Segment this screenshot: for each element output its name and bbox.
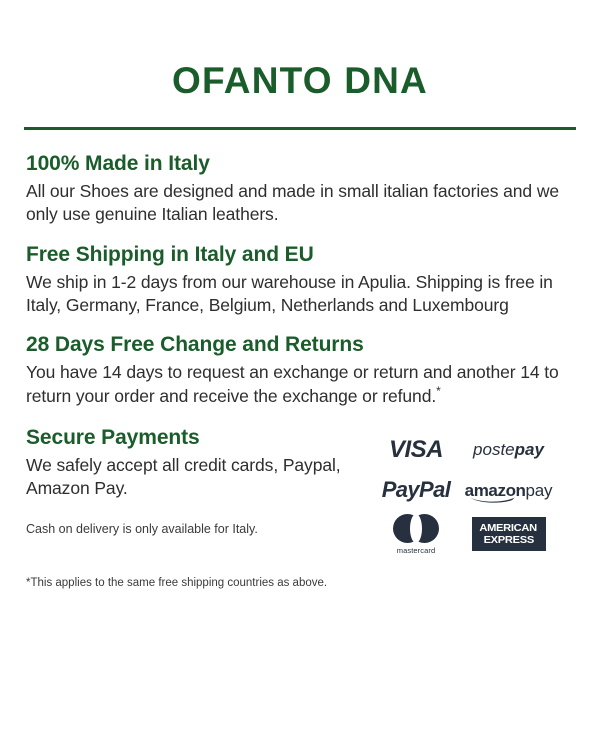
mastercard-logo-cell: mastercard	[376, 510, 456, 558]
postepay-bold-part: pay	[515, 440, 544, 459]
amex-line-2: EXPRESS	[483, 534, 533, 546]
section-body: You have 14 days to request an exchange …	[26, 361, 574, 408]
postepay-icon: postepay	[473, 440, 544, 460]
section-heading: Secure Payments	[26, 426, 366, 450]
amazon-pay-icon: amazonpay	[465, 482, 553, 499]
postepay-light-part: poste	[473, 440, 515, 459]
visa-logo-cell: VISA	[376, 430, 456, 470]
mastercard-icon: mastercard	[393, 514, 439, 555]
section-body: All our Shoes are designed and made in s…	[26, 180, 574, 227]
paypal-logo-cell: PayPal	[376, 470, 456, 510]
cash-on-delivery-note: Cash on delivery is only available for I…	[26, 521, 366, 537]
amazon-pay-logo-cell: amazonpay	[461, 470, 556, 510]
mastercard-overlap	[410, 514, 422, 543]
amazon-light-part: pay	[526, 481, 553, 500]
mastercard-wordmark: mastercard	[397, 546, 436, 555]
content-area: 100% Made in Italy All our Shoes are des…	[0, 130, 600, 591]
american-express-icon: AMERICAN EXPRESS	[472, 517, 546, 551]
section-body: We safely accept all credit cards, Paypa…	[26, 454, 366, 501]
section-returns: 28 Days Free Change and Returns You have…	[26, 333, 574, 408]
mastercard-circles	[393, 514, 439, 543]
section-heading: 28 Days Free Change and Returns	[26, 333, 574, 357]
section-body-text: You have 14 days to request an exchange …	[26, 362, 559, 405]
section-secure-payments: Secure Payments We safely accept all cre…	[26, 426, 574, 554]
amex-line-1: AMERICAN	[480, 522, 537, 534]
ofanto-dna-info-panel: OFANTO DNA 100% Made in Italy All our Sh…	[0, 0, 600, 750]
section-made-in-italy: 100% Made in Italy All our Shoes are des…	[26, 152, 574, 227]
amazon-smile-arrow-icon	[466, 496, 520, 503]
footnote-marker: *	[436, 384, 441, 398]
section-free-shipping: Free Shipping in Italy and EU We ship in…	[26, 243, 574, 318]
section-body: We ship in 1-2 days from our warehouse i…	[26, 271, 574, 318]
section-heading: 100% Made in Italy	[26, 152, 574, 176]
payments-text-block: Secure Payments We safely accept all cre…	[26, 426, 366, 537]
payment-logos: VISA postepay PayPal amazonpay	[376, 430, 556, 558]
section-heading: Free Shipping in Italy and EU	[26, 243, 574, 267]
american-express-logo-cell: AMERICAN EXPRESS	[461, 510, 556, 558]
postepay-logo-cell: postepay	[461, 430, 556, 470]
footnote-text: *This applies to the same free shipping …	[26, 576, 574, 591]
page-title: OFANTO DNA	[0, 0, 600, 99]
visa-icon: VISA	[389, 436, 443, 464]
paypal-icon: PayPal	[382, 477, 451, 503]
